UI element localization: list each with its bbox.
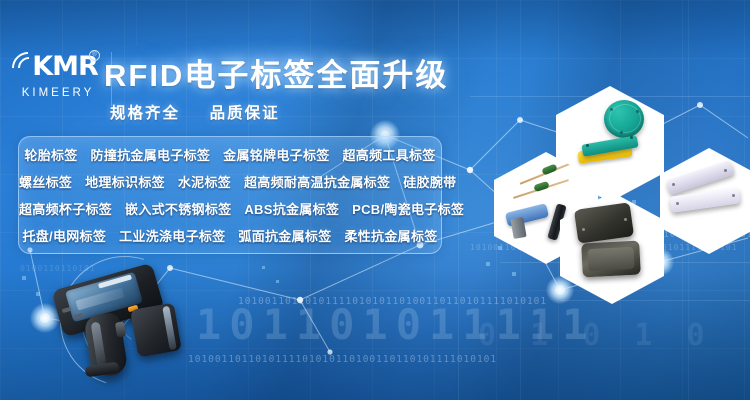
- product-tag-label: 托盘/电网标签: [22, 229, 106, 244]
- logo-mark: ® KMR: [12, 48, 104, 86]
- teal-disc-inner-bevel: [609, 104, 641, 133]
- product-list-row: 超高频杯子标签 嵌入式不锈钢标签 ABS抗金属标签 PCB/陶瓷电子标签: [19, 199, 441, 218]
- mounting-hole: [672, 183, 675, 186]
- glass-tube-capsule: [541, 163, 558, 175]
- rfid-promo-banner: 0100110110101111010101 10100110110101111…: [0, 0, 750, 400]
- product-tag-label: 超高频工具标签: [342, 148, 435, 163]
- mounting-hole: [732, 194, 735, 197]
- mounting-hole: [624, 218, 627, 221]
- logo-brand-text: KIMEERY: [12, 87, 104, 99]
- product-tag-label: 超高频耐高温抗金属标签: [244, 175, 390, 190]
- binary-text-lower-strip: 1010011011010111101010110100110110101111…: [188, 354, 497, 365]
- product-tag-label: 弧面抗金属标签: [238, 229, 331, 244]
- product-tag-label: 螺丝标签: [19, 175, 72, 190]
- reader-trigger[interactable]: [115, 321, 126, 337]
- product-list-row: 轮胎标签 防撞抗金属电子标签 金属铭牌电子标签 超高频工具标签: [19, 145, 441, 164]
- product-tag-label: 柔性抗金属标签: [344, 229, 437, 244]
- mounting-hole: [676, 202, 679, 205]
- product-tag-label: 防撞抗金属电子标签: [91, 148, 211, 163]
- product-tag-label: 硅胶腕带: [403, 175, 456, 190]
- vertical-rule: [136, 0, 137, 46]
- product-tag-label: 嵌入式不锈钢标签: [125, 202, 231, 217]
- product-tag-label: 地理标识标签: [85, 175, 165, 190]
- product-tag-label: 超高频杯子标签: [19, 202, 112, 217]
- horizontal-rule: [560, 300, 750, 301]
- product-list-row: 螺丝标签 地理标识标签 水泥标签 超高频耐高温抗金属标签 硅胶腕带: [19, 172, 441, 191]
- dark-abs-anti-metal-tag: [574, 202, 634, 243]
- subtitle-left: 规格齐全: [110, 105, 180, 122]
- binary-text-large-overlay: 101101011111: [196, 300, 595, 349]
- product-tag-label: ABS抗金属标签: [244, 202, 339, 217]
- product-tag-label: 金属铭牌电子标签: [223, 148, 329, 163]
- product-tag-label: PCB/陶瓷电子标签: [352, 202, 464, 217]
- product-list-panel: 轮胎标签 防撞抗金属电子标签 金属铭牌电子标签 超高频工具标签 螺丝标签 地理标…: [18, 136, 442, 254]
- product-tag-label: 工业洗涤电子标签: [119, 229, 225, 244]
- handheld-rfid-reader[interactable]: [52, 270, 222, 380]
- binary-text-upper-strip: 1010011011010111101010110100110110101111…: [238, 296, 547, 307]
- product-tag-label: 轮胎标签: [24, 148, 77, 163]
- glass-tube-capsule: [533, 181, 549, 192]
- hexagon-white-anti-metal-tags[interactable]: [660, 148, 750, 254]
- mounting-hole: [582, 228, 585, 231]
- hexagon-content: [660, 148, 750, 254]
- vertical-rule: [458, 0, 459, 400]
- mounting-hole: [724, 169, 727, 172]
- page-subtitle: 规格齐全 品质保证: [110, 101, 280, 123]
- page-title: RFID电子标签全面升级: [104, 50, 448, 95]
- kimeery-logo[interactable]: ® KMR KIMEERY: [12, 48, 104, 110]
- binary-text-faint-bottom: 0 1 0 1 0: [478, 318, 713, 353]
- product-list-row: 托盘/电网标签 工业洗涤电子标签 弧面抗金属标签 柔性抗金属标签: [19, 226, 441, 245]
- registered-trademark-icon: ®: [89, 50, 100, 61]
- tag-recess: [587, 247, 634, 271]
- subtitle-right: 品质保证: [210, 105, 280, 122]
- product-tag-label: 水泥标签: [178, 175, 231, 190]
